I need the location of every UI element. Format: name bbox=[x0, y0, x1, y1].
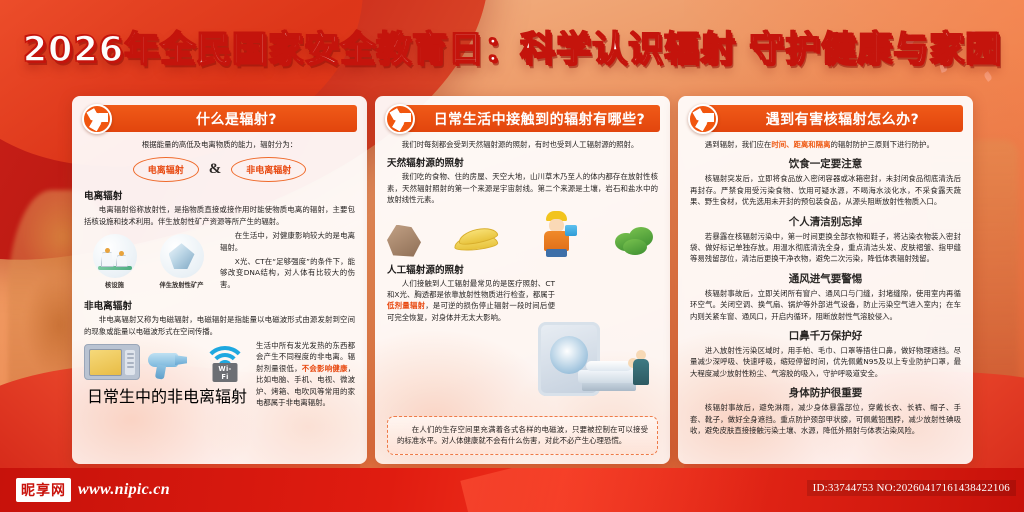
paragraph-natural-source: 我们吃的食物、住的房屋、天空大地，山川草木乃至人的体内都存在放射性核素，天然辐射… bbox=[387, 171, 658, 205]
rock-icon bbox=[387, 225, 421, 257]
page-title: 2026年全民国家安全教育日：科学认识辐射 守护健康与家园 bbox=[0, 22, 1024, 78]
tip-title-hygiene: 个人清洁别忘掉 bbox=[690, 214, 961, 229]
tip-text-diet: 核辐射突发后，立即将食品放入密闭容器或冰箱密封，未封闭食品彻底清洗后再封存。严禁… bbox=[690, 173, 961, 207]
radiation-icon bbox=[385, 104, 415, 134]
nuclear-facility-icon bbox=[93, 234, 137, 278]
subheading-ionizing: 电离辐射 bbox=[84, 188, 355, 202]
footer-bar: 昵享网 www.nipic.cn ID:33744753 NO:20260417… bbox=[0, 468, 1024, 512]
tip-text-body-protection: 核辐射事故后，避免淋雨，减少身体暴露部位，穿戴长衣、长裤、帽子、手套、靴子，做好… bbox=[690, 402, 961, 436]
paragraph-non-ionizing-dose: 生活中所有发光发热的东西都会产生不同程度的非电离。辐射剂量很低，不会影响健康，比… bbox=[256, 340, 355, 408]
tip-text-hygiene: 若暴露在核辐射污染中，第一时间更换全部衣物和鞋子，将沾染衣物装入密封袋、做好标记… bbox=[690, 231, 961, 265]
section-header-bar: 什么是辐射? bbox=[100, 105, 357, 132]
hairdryer-icon bbox=[146, 346, 194, 380]
intro-text-1: 根据能量的高低及电离物质的能力，辐射分为： bbox=[84, 139, 355, 150]
low-dose-highlight: 低剂量辐射 bbox=[387, 301, 425, 310]
section-header-1: 什么是辐射? bbox=[82, 105, 357, 132]
poster-canvas: 2026年全民国家安全教育日：科学认识辐射 守护健康与家园 什么是辐射? 根据能… bbox=[0, 0, 1024, 512]
tip-text-respiratory: 进入放射性污染区域时，用手帕、毛巾、口罩等捂住口鼻，做好物理遮挡。尽量减少深呼吸… bbox=[690, 345, 961, 379]
subheading-natural-source: 天然辐射源的照射 bbox=[387, 155, 658, 169]
banana-icon bbox=[454, 227, 502, 257]
brand-logo: 昵享网 bbox=[16, 478, 71, 502]
natural-source-figure-row bbox=[387, 209, 658, 257]
tip-text-ventilation: 核辐射事故后，立即关闭所有窗户、通风口与门缝，封堵缝隙，使用室内再循环空气。关闭… bbox=[690, 288, 961, 322]
ct-scanner-illustration bbox=[532, 320, 650, 416]
worker-painting-icon bbox=[535, 211, 579, 257]
figure-caption: 伴生放射性矿产 bbox=[151, 280, 212, 289]
figure-hairdryer bbox=[146, 346, 194, 380]
wifi-label: Wi-Fi bbox=[213, 363, 238, 382]
section-body-1: 根据能量的高低及电离物质的能力，辐射分为： 电离辐射 & 非电离辐射 电离辐射 … bbox=[72, 132, 367, 412]
tip-title-respiratory: 口鼻千万保护好 bbox=[690, 328, 961, 343]
dose-highlight: 不会影响健康 bbox=[302, 364, 348, 373]
figure-wifi: Wi-Fi bbox=[200, 344, 250, 380]
section-what-is-radiation: 什么是辐射? 根据能量的高低及电离物质的能力，辐射分为： 电离辐射 & 非电离辐… bbox=[72, 96, 367, 464]
paragraph-ionizing-life: 在生活中，对健康影响较大的是电离辐射。 bbox=[220, 230, 355, 253]
paragraph-non-ionizing-def: 非电离辐射又称为电磁辐射，电磁辐射是指能量以电磁波形式由源发射到空间的现象或能量… bbox=[84, 314, 355, 337]
section-title-2: 日常生活中接触到的辐射有哪些? bbox=[418, 109, 646, 129]
section-header-3: 遇到有害核辐射怎么办? bbox=[688, 105, 963, 132]
intro-text-2: 我们时每刻都会受到天然辐射源的照射，有时也受到人工辐射源的照射。 bbox=[387, 139, 658, 150]
three-principles-highlight: 时间、距离和隔离 bbox=[771, 140, 830, 149]
brand-url[interactable]: www.nipic.cn bbox=[78, 481, 170, 499]
paragraph-xray-ct: X光、CT在“足够强度”的条件下，能够改变DNA结构，对人体有比较大的伤害。 bbox=[220, 256, 355, 290]
section-header-bar: 日常生活中接触到的辐射有哪些? bbox=[403, 105, 660, 132]
ionizing-figure-row: 核设施 伴生放射性矿产 bbox=[84, 234, 212, 289]
radiation-icon bbox=[688, 104, 718, 134]
wifi-icon: Wi-Fi bbox=[200, 344, 250, 380]
paragraph-ionizing-def: 电离辐射俗称放射性，是指物质直接或接作用时能使物质电离的辐射，主要包括核设施和技… bbox=[84, 204, 355, 227]
mineral-ore-icon bbox=[160, 234, 204, 278]
section-daily-life-radiation: 日常生活中接触到的辐射有哪些? 我们时每刻都会受到天然辐射源的照射，有时也受到人… bbox=[375, 96, 670, 464]
intro-text-b: 的辐射防护三原则下进行防护。 bbox=[830, 140, 933, 149]
section-header-2: 日常生活中接触到的辐射有哪些? bbox=[385, 105, 660, 132]
section-body-3: 遇到辐射，我们应在时间、距离和隔离的辐射防护三原则下进行防护。 饮食一定要注意 … bbox=[678, 132, 973, 437]
pill-non-ionizing-radiation[interactable]: 非电离辐射 bbox=[231, 157, 306, 182]
plant-icon bbox=[612, 221, 658, 257]
section-body-2: 我们时每刻都会受到天然辐射源的照射，有时也受到人工辐射源的照射。 天然辐射源的照… bbox=[375, 132, 670, 323]
subheading-non-ionizing: 非电离辐射 bbox=[84, 298, 355, 312]
title-band: 2026年全民国家安全教育日：科学认识辐射 守护健康与家园 bbox=[0, 22, 1024, 84]
tip-title-diet: 饮食一定要注意 bbox=[690, 156, 961, 171]
tip-title-body-protection: 身体防护很重要 bbox=[690, 385, 961, 400]
radiation-icon bbox=[82, 104, 112, 134]
figure-microwave bbox=[84, 344, 140, 380]
image-id-tag: ID:33744753 NO:20260417161438422106 bbox=[807, 480, 1016, 496]
intro-text-a: 遇到辐射，我们应在 bbox=[705, 140, 772, 149]
radiation-type-pills: 电离辐射 & 非电离辐射 bbox=[84, 157, 355, 182]
subheading-artificial-source: 人工辐射源的照射 bbox=[387, 262, 555, 276]
artificial-text-a: 人们接触到人工辐射最常见的是医疗照射、CT和X光、胸透都是依靠放射性物质进行检查… bbox=[387, 279, 555, 299]
pill-separator: & bbox=[209, 161, 222, 178]
tip-title-ventilation: 通风进气要警惕 bbox=[690, 271, 961, 286]
paragraph-artificial-source: 人们接触到人工辐射最常见的是医疗照射、CT和X光、胸透都是依靠放射性物质进行检查… bbox=[387, 278, 555, 324]
brand: 昵享网 www.nipic.cn bbox=[16, 478, 170, 502]
electromagnetic-note-box: 在人们的生存空间里充满着各式各样的电磁波，只要被控制在可以接受的标准水平。对人体… bbox=[387, 416, 658, 455]
section-title-1: 什么是辐射? bbox=[180, 109, 277, 129]
microwave-icon bbox=[84, 344, 140, 380]
appliance-figure-row: Wi-Fi bbox=[84, 344, 250, 380]
figure-caption: 核设施 bbox=[84, 280, 145, 289]
section-nuclear-radiation-response: 遇到有害核辐射怎么办? 遇到辐射，我们应在时间、距离和隔离的辐射防护三原则下进行… bbox=[678, 96, 973, 464]
figure-radioactive-mineral: 伴生放射性矿产 bbox=[151, 234, 212, 289]
pill-ionizing-radiation[interactable]: 电离辐射 bbox=[133, 157, 199, 182]
note-text: 在人们的生存空间里充满着各式各样的电磁波，只要被控制在可以接受的标准水平。对人体… bbox=[397, 424, 648, 447]
figure-nuclear-facility: 核设施 bbox=[84, 234, 145, 289]
intro-text-3: 遇到辐射，我们应在时间、距离和隔离的辐射防护三原则下进行防护。 bbox=[690, 139, 961, 150]
section-header-bar: 遇到有害核辐射怎么办? bbox=[706, 105, 963, 132]
section-title-3: 遇到有害核辐射怎么办? bbox=[750, 109, 920, 129]
